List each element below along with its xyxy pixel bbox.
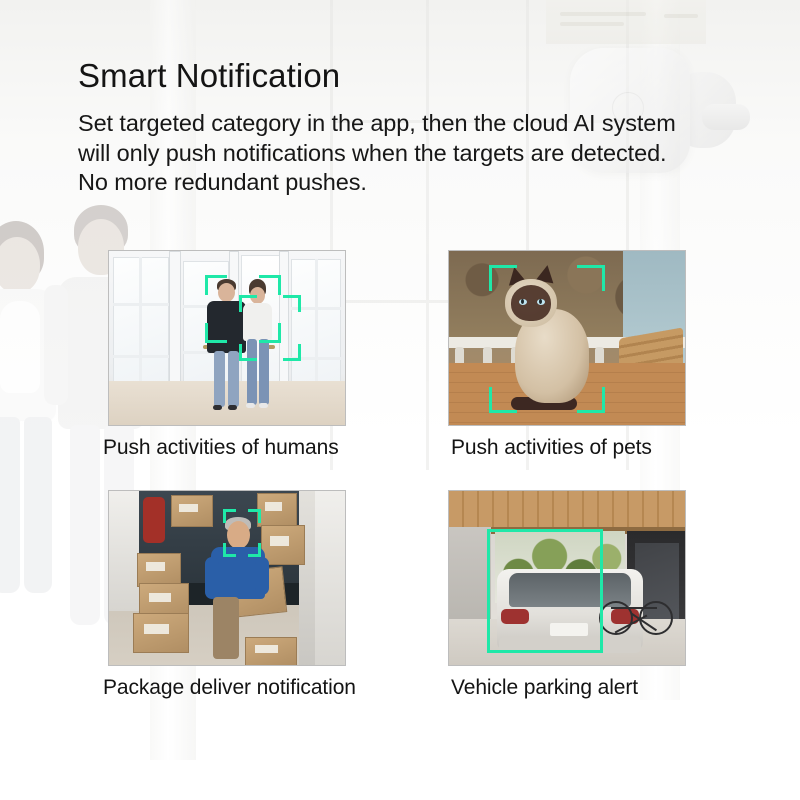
thumbnail-vehicle[interactable]: [448, 490, 686, 666]
detection-box-humans-secondary: [239, 295, 301, 361]
thumbnail-humans[interactable]: [108, 250, 346, 426]
caption-humans: Push activities of humans: [103, 435, 346, 460]
feature-card-humans[interactable]: Push activities of humans: [108, 250, 346, 460]
caption-vehicle: Vehicle parking alert: [451, 675, 686, 700]
thumbnail-pets[interactable]: [448, 250, 686, 426]
feature-card-vehicle[interactable]: Vehicle parking alert: [448, 490, 686, 700]
caption-package: Package deliver notification: [103, 675, 346, 700]
feature-card-pets[interactable]: Push activities of pets: [448, 250, 686, 460]
feature-card-package[interactable]: Package deliver notification: [108, 490, 346, 700]
detection-box-vehicle: [487, 529, 603, 653]
bicycle-graphic: [599, 585, 673, 635]
caption-pets: Push activities of pets: [451, 435, 686, 460]
detection-box-package: [223, 509, 261, 557]
promo-banner: Smart Notification Set targeted category…: [0, 0, 800, 800]
thumbnail-package[interactable]: [108, 490, 346, 666]
detection-box-pets: [489, 265, 605, 413]
feature-grid: Push activities of humans: [0, 0, 800, 800]
